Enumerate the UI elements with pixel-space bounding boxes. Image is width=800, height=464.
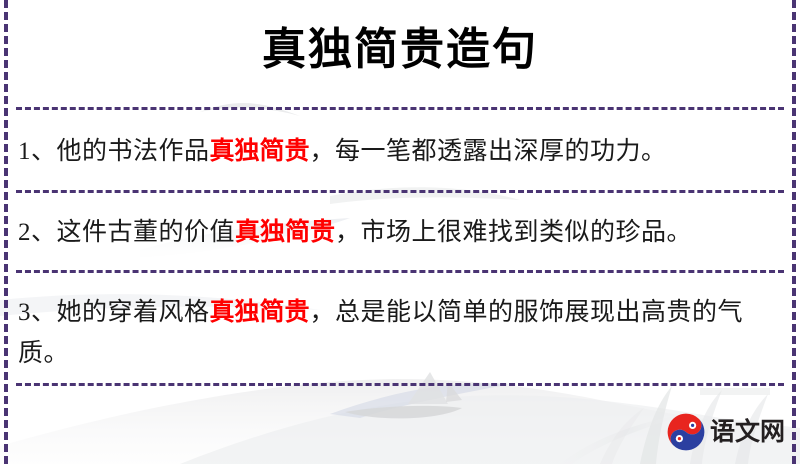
highlight-phrase-3: 真独简贵 bbox=[210, 298, 310, 326]
sentence-item-3: 3、她的穿着风格真独简贵，总是能以简单的服饰展现出高贵的气质。 bbox=[18, 292, 780, 374]
page-title: 真独简贵造句 bbox=[0, 22, 800, 78]
sentence-item-1: 1、他的书法作品真独简贵，每一笔都透露出深厚的功力。 bbox=[18, 131, 780, 172]
sentence-number-1: 1、 bbox=[18, 138, 57, 165]
sentence-number-3: 3、 bbox=[18, 299, 57, 326]
slide-page: 真独简贵造句 1、他的书法作品真独简贵，每一笔都透露出深厚的功力。 2、这件古董… bbox=[0, 0, 800, 464]
sentence-before-3: 她的穿着风格 bbox=[57, 299, 210, 326]
sentence-after-2: ，市场上很难找到类似的珍品。 bbox=[335, 219, 692, 246]
highlight-phrase-1: 真独简贵 bbox=[210, 137, 310, 165]
sentence-number-2: 2、 bbox=[18, 219, 57, 246]
sentence-before-1: 他的书法作品 bbox=[57, 138, 210, 165]
site-logo[interactable]: 语文网 bbox=[666, 410, 790, 454]
site-logo-text: 语文网 bbox=[710, 418, 785, 446]
separator-below-row-3 bbox=[16, 383, 784, 386]
sentence-before-2: 这件古董的价值 bbox=[57, 219, 236, 246]
page-border-right bbox=[792, 0, 796, 464]
sentence-item-2: 2、这件古董的价值真独简贵，市场上很难找到类似的珍品。 bbox=[18, 212, 780, 253]
separator-below-title bbox=[16, 107, 784, 110]
separator-below-row-1 bbox=[16, 190, 784, 193]
highlight-phrase-2: 真独简贵 bbox=[235, 218, 335, 246]
taiji-circle-icon bbox=[666, 412, 706, 452]
separator-below-row-2 bbox=[16, 270, 784, 273]
sentence-after-1: ，每一笔都透露出深厚的功力。 bbox=[310, 138, 667, 165]
page-border-left bbox=[4, 0, 8, 464]
